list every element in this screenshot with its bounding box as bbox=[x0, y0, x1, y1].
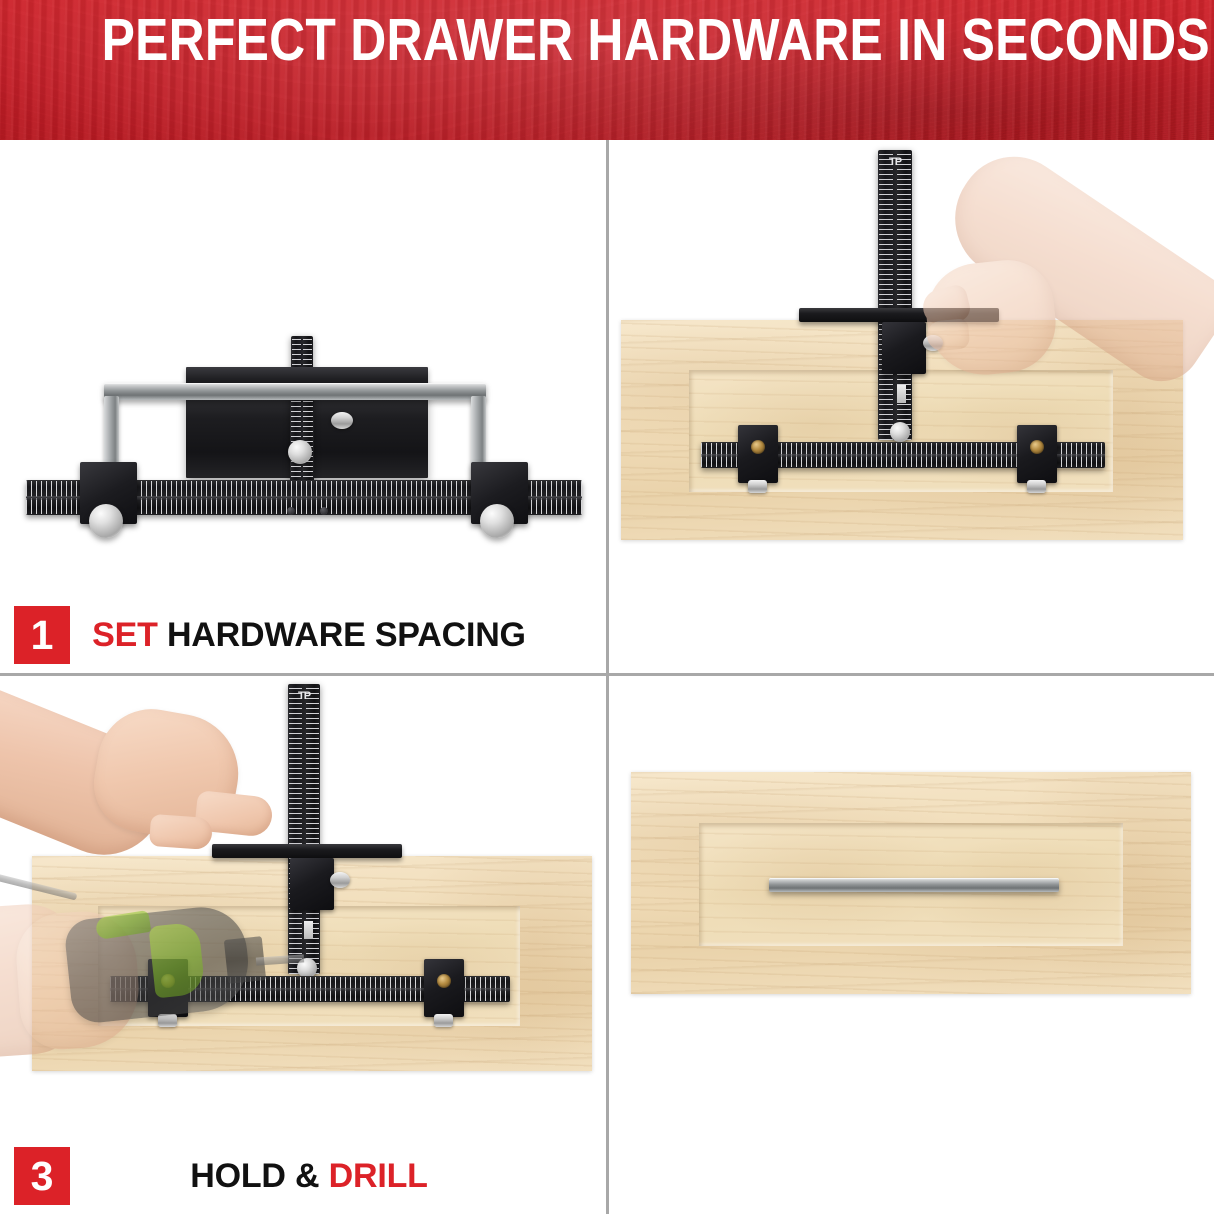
step-1-label-black: HARDWARE SPACING bbox=[167, 616, 526, 654]
grid-divider-vertical bbox=[606, 140, 609, 1214]
step-3-illustration: TP TRUE POSITION TOOLS Cabinet Hardware … bbox=[0, 676, 606, 1214]
header-banner: PERFECT DRAWER HARDWARE IN SECONDS bbox=[0, 0, 1214, 140]
center-lock-knob[interactable] bbox=[288, 440, 312, 464]
guide-thumbscrew-right-2[interactable] bbox=[1027, 480, 1046, 493]
steps-grid: 1 SET HARDWARE SPACING TP TRUE POSITION … bbox=[0, 140, 1214, 1214]
step-2-illustration: TP TRUE POSITION TOOLS Cabinet Hardware … bbox=[609, 140, 1214, 673]
vertical-slider-block-2[interactable] bbox=[882, 322, 926, 374]
step-3-label: HOLD & DRILL bbox=[70, 1159, 606, 1193]
thumbscrew-knob-right[interactable] bbox=[480, 504, 514, 538]
guide-thumbscrew-right-3[interactable] bbox=[434, 1014, 453, 1027]
installed-bar-pull-4 bbox=[769, 878, 1059, 892]
vertical-lock-thumbscrew-2[interactable] bbox=[923, 335, 943, 351]
vertical-ruler-arm-2: TP TRUE POSITION TOOLS Cabinet Hardware … bbox=[878, 150, 912, 440]
step-1-caption: 1 SET HARDWARE SPACING bbox=[0, 605, 606, 665]
edge-reference-crossbar-2 bbox=[799, 308, 999, 322]
vertical-ruler-ticks-left-3 bbox=[289, 684, 302, 974]
drill-bushing-left-2 bbox=[751, 440, 765, 454]
forearm-3 bbox=[0, 676, 181, 873]
step-1-illustration bbox=[0, 140, 606, 673]
step-panel-2: TP TRUE POSITION TOOLS Cabinet Hardware … bbox=[609, 140, 1214, 673]
tp-logo-icon-2: TP bbox=[884, 156, 906, 169]
rail-fastener-left bbox=[287, 507, 295, 515]
drill-guide-block-left-2[interactable] bbox=[738, 425, 778, 483]
vertical-slider-block-3[interactable] bbox=[290, 858, 334, 910]
drill-bushing-right-3 bbox=[437, 974, 451, 988]
micro-adjust-knob[interactable] bbox=[331, 412, 353, 429]
drill-guide-block-right-2[interactable] bbox=[1017, 425, 1057, 483]
step-3-number: 3 bbox=[14, 1147, 70, 1205]
scale-window-2 bbox=[897, 385, 906, 403]
vertical-lock-thumbscrew-3[interactable] bbox=[330, 872, 350, 888]
center-scale-ticks-right bbox=[303, 396, 313, 482]
step-1-label: SET HARDWARE SPACING bbox=[70, 618, 606, 652]
tp-logo-icon-3: TP bbox=[293, 690, 315, 703]
step-1-label-red: SET bbox=[92, 616, 158, 654]
step-3-label-black: HOLD & bbox=[190, 1157, 319, 1195]
step-panel-1: 1 SET HARDWARE SPACING bbox=[0, 140, 606, 673]
page-title: PERFECT DRAWER HARDWARE IN SECONDS bbox=[0, 41, 1214, 100]
bar-pull-handle bbox=[104, 383, 486, 400]
middle-finger-3 bbox=[149, 814, 213, 850]
step-3-label-red: DRILL bbox=[329, 1157, 428, 1195]
infographic-poster: PERFECT DRAWER HARDWARE IN SECONDS bbox=[0, 0, 1214, 1214]
step-panel-4: 4 INSTALL HARDWARE bbox=[609, 676, 1214, 1214]
drill-bushing-right-2 bbox=[1030, 440, 1044, 454]
thumbscrew-knob-left[interactable] bbox=[89, 504, 123, 538]
palm-3 bbox=[86, 701, 247, 848]
edge-reference-crossbar-3 bbox=[212, 844, 402, 858]
grid-divider-horizontal bbox=[0, 673, 1214, 676]
step-4-illustration bbox=[609, 676, 1214, 1214]
rail-fastener-right bbox=[320, 507, 328, 515]
scale-window-3 bbox=[304, 921, 313, 939]
guide-thumbscrew-left-2[interactable] bbox=[748, 480, 767, 493]
page-title-text: PERFECT DRAWER HARDWARE IN SECONDS bbox=[102, 11, 1210, 70]
center-scale-ticks-left bbox=[291, 396, 301, 482]
index-finger-3 bbox=[194, 790, 274, 838]
step-panel-3: TP TRUE POSITION TOOLS Cabinet Hardware … bbox=[0, 676, 606, 1214]
center-pivot-knob-2[interactable] bbox=[890, 422, 910, 442]
jig-center-scale bbox=[290, 396, 314, 482]
vertical-ruler-ticks-left-2 bbox=[879, 150, 893, 440]
drill-guide-block-right-3[interactable] bbox=[424, 959, 464, 1017]
step-3-caption: 3 HOLD & DRILL bbox=[0, 1146, 606, 1206]
step-1-number: 1 bbox=[14, 606, 70, 664]
